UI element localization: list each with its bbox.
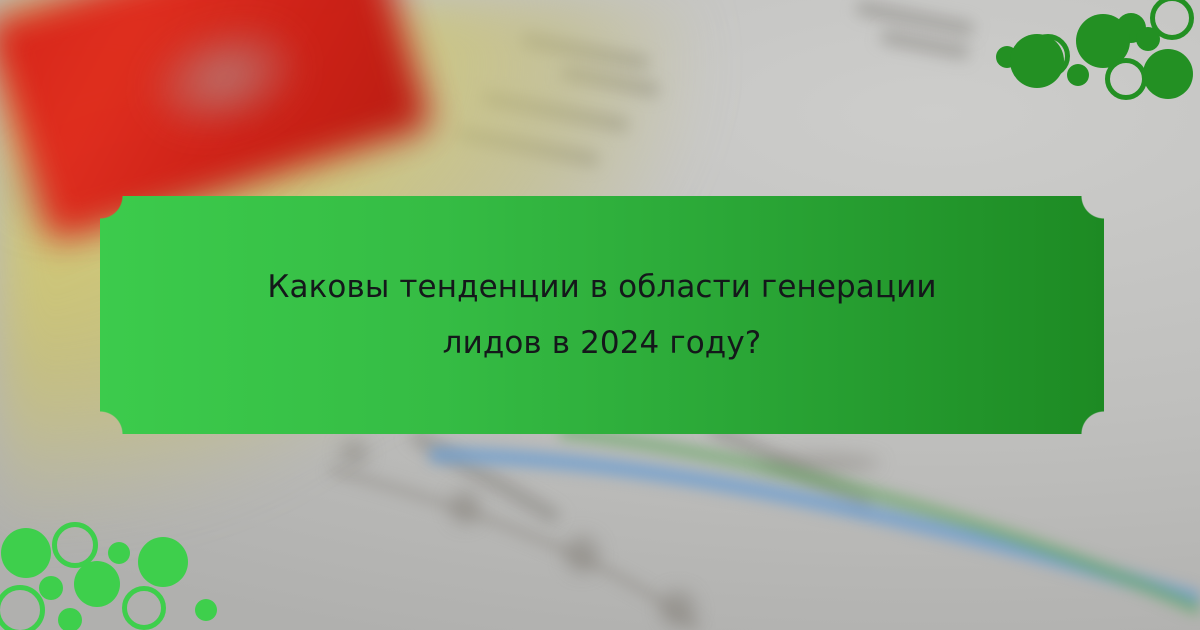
decorative-dot-filled: [39, 576, 63, 600]
decorative-dot-filled: [58, 608, 82, 630]
decorative-dot-filled: [1, 528, 51, 578]
decorative-dot-outline: [122, 586, 166, 630]
decorative-dot-outline: [0, 585, 45, 630]
decorative-dot-filled: [138, 537, 188, 587]
headline-text: Каковы тенденции в области генерации лид…: [100, 196, 1104, 434]
headline-panel: Каковы тенденции в области генерации лид…: [100, 196, 1104, 434]
decorative-dot-filled: [108, 542, 130, 564]
social-card: Каковы тенденции в области генерации лид…: [0, 0, 1200, 630]
decorative-dot-filled: [195, 599, 217, 621]
decorative-dot-filled: [74, 561, 120, 607]
